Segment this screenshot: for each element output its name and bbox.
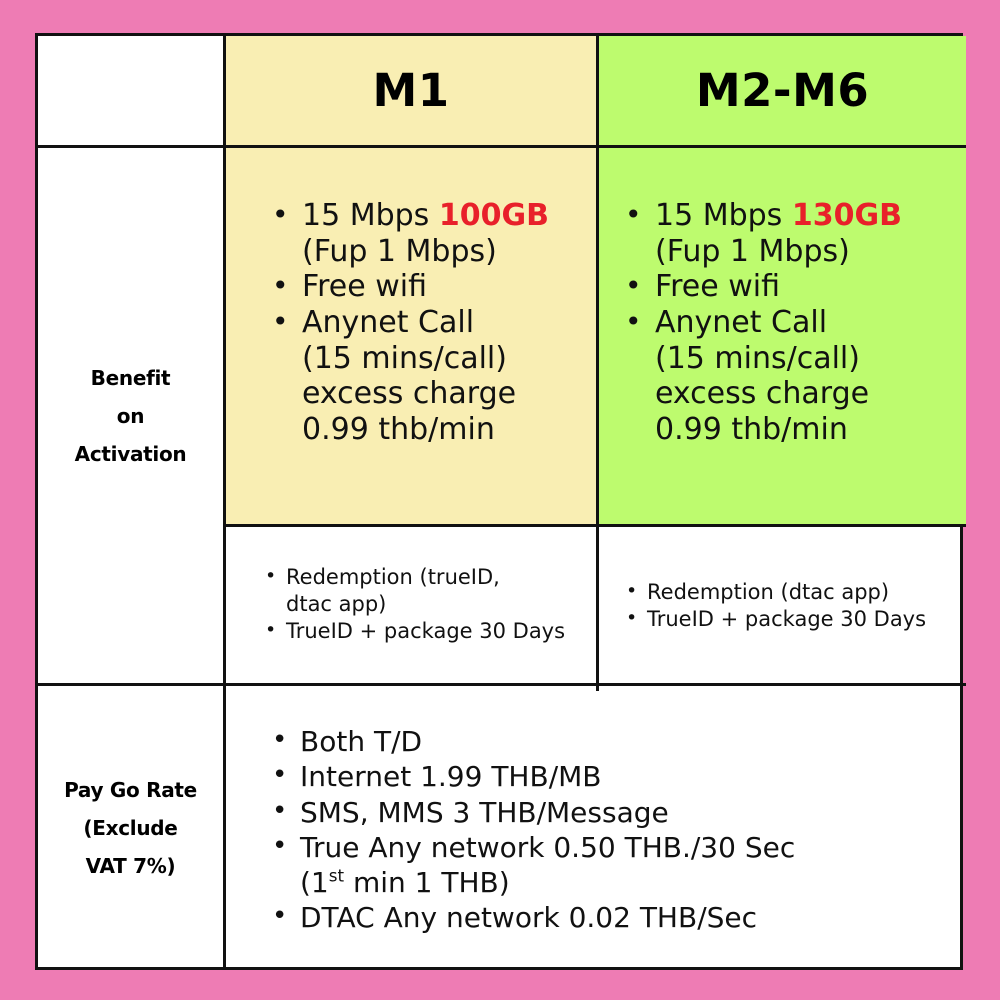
- list-item: Redemption (trueID, dtac app): [260, 564, 588, 618]
- list-item: TrueID + package 30 Days: [260, 618, 588, 645]
- pay-go-rate-cell: Both T/D Internet 1.99 THB/MB SMS, MMS 3…: [223, 683, 966, 970]
- row-label-benefit-line-1: Benefit: [75, 359, 187, 397]
- list-item: 15 Mbps 100GB (Fup 1 Mbps): [266, 198, 588, 269]
- list-item: Redemption (dtac app): [621, 579, 958, 606]
- benefit-list-m1: 15 Mbps 100GB (Fup 1 Mbps) Free wifi Any…: [266, 198, 588, 448]
- row-label-benefit-line-3: Activation: [75, 435, 187, 473]
- paygo-item4-sub-pre: (1: [300, 866, 329, 899]
- benefit-m1-item3-sub2: excess charge: [302, 376, 588, 412]
- paygo-item4-sub-ordinal: st: [329, 866, 344, 886]
- benefit-m2-item1-sub: (Fup 1 Mbps): [655, 234, 958, 270]
- benefit-m2-item1-lead: 15 Mbps: [655, 198, 792, 233]
- redeem-m1-item1-sub: dtac app): [286, 591, 588, 618]
- paygo-item4-sub: (1st min 1 THB): [300, 865, 958, 900]
- column-divider-stub: [596, 686, 599, 691]
- list-item: Free wifi: [266, 269, 588, 305]
- paygo-item4-sub-post: min 1 THB): [344, 866, 510, 899]
- redemption-cell-m2-m6: Redemption (dtac app) TrueID + package 3…: [596, 524, 966, 683]
- column-header-m2-m6: M2-M6: [596, 36, 966, 145]
- column-header-m1: M1: [223, 36, 596, 145]
- list-item: DTAC Any network 0.02 THB/Sec: [266, 900, 958, 935]
- list-item: Internet 1.99 THB/MB: [266, 759, 958, 794]
- redemption-list-m1: Redemption (trueID, dtac app) TrueID + p…: [260, 564, 588, 645]
- benefit-m2-item3-sub: (15 mins/call): [655, 341, 958, 377]
- redemption-cell-m1: Redemption (trueID, dtac app) TrueID + p…: [223, 524, 596, 683]
- paygo-item5: DTAC Any network 0.02 THB/Sec: [300, 901, 757, 934]
- benefit-m2-item3-sub2: excess charge: [655, 376, 958, 412]
- benefit-m2-item3-sub3: 0.99 thb/min: [655, 412, 958, 448]
- benefit-m2-item3-lead: Anynet Call: [655, 305, 827, 340]
- list-item: Anynet Call (15 mins/call) excess charge…: [619, 305, 958, 448]
- benefit-m1-item1-lead: 15 Mbps: [302, 198, 439, 233]
- benefit-m1-item3-sub3: 0.99 thb/min: [302, 412, 588, 448]
- row-label-paygo-line-1: Pay Go Rate: [64, 771, 197, 809]
- row-label-benefit-on-activation: Benefit on Activation: [38, 145, 223, 683]
- column-header-m2-m6-label: M2-M6: [696, 64, 869, 117]
- redeem-m1-item1: Redemption (trueID,: [286, 565, 500, 589]
- paygo-item4: True Any network 0.50 THB./30 Sec: [300, 831, 795, 864]
- benefit-m1-item3-lead: Anynet Call: [302, 305, 474, 340]
- redeem-m2-item1: Redemption (dtac app): [647, 580, 889, 604]
- table-corner-cell: [38, 36, 223, 145]
- pay-go-rate-list: Both T/D Internet 1.99 THB/MB SMS, MMS 3…: [266, 724, 958, 936]
- row-label-benefit-line-2: on: [75, 397, 187, 435]
- row-label-paygo-line-2: (Exclude: [64, 809, 197, 847]
- row-label-paygo-line-3: VAT 7%): [64, 847, 197, 885]
- row-label-pay-go-rate: Pay Go Rate (Exclude VAT 7%): [38, 683, 223, 970]
- benefit-m1-item1-sub: (Fup 1 Mbps): [302, 234, 588, 270]
- benefit-cell-m1: 15 Mbps 100GB (Fup 1 Mbps) Free wifi Any…: [223, 145, 596, 524]
- benefit-m2-item1-highlight: 130GB: [792, 198, 902, 233]
- list-item: 15 Mbps 130GB (Fup 1 Mbps): [619, 198, 958, 269]
- paygo-item1: Both T/D: [300, 725, 422, 758]
- list-item: Both T/D: [266, 724, 958, 759]
- paygo-item3: SMS, MMS 3 THB/Message: [300, 796, 669, 829]
- benefit-list-m2-m6: 15 Mbps 130GB (Fup 1 Mbps) Free wifi Any…: [619, 198, 958, 448]
- benefit-cell-m2-m6: 15 Mbps 130GB (Fup 1 Mbps) Free wifi Any…: [596, 145, 966, 524]
- list-item: Free wifi: [619, 269, 958, 305]
- comparison-table: M1 M2-M6 Benefit on Activation 15 Mbps 1…: [35, 33, 963, 970]
- redeem-m1-item2: TrueID + package 30 Days: [286, 619, 565, 643]
- benefit-m1-item1-highlight: 100GB: [439, 198, 549, 233]
- paygo-item2: Internet 1.99 THB/MB: [300, 760, 602, 793]
- list-item: Anynet Call (15 mins/call) excess charge…: [266, 305, 588, 448]
- list-item: SMS, MMS 3 THB/Message: [266, 795, 958, 830]
- benefit-m1-item3-sub: (15 mins/call): [302, 341, 588, 377]
- benefit-m1-item2-lead: Free wifi: [302, 269, 427, 304]
- redeem-m2-item2: TrueID + package 30 Days: [647, 607, 926, 631]
- column-header-m1-label: M1: [372, 64, 449, 117]
- list-item: TrueID + package 30 Days: [621, 606, 958, 633]
- redemption-list-m2-m6: Redemption (dtac app) TrueID + package 3…: [621, 579, 958, 633]
- list-item: True Any network 0.50 THB./30 Sec (1st m…: [266, 830, 958, 901]
- benefit-m2-item2-lead: Free wifi: [655, 269, 780, 304]
